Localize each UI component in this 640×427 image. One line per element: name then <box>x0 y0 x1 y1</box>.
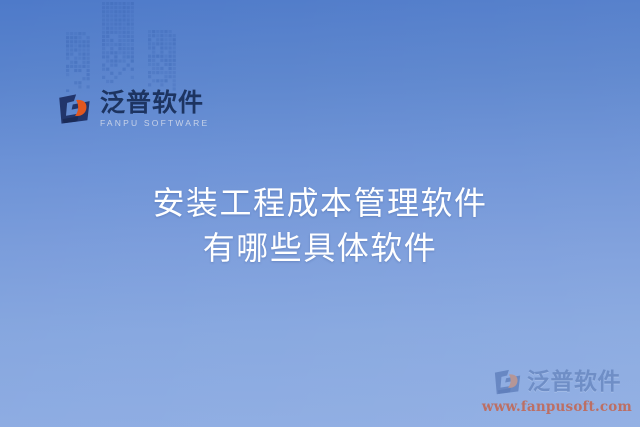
headline-line-2: 有哪些具体软件 <box>0 226 640 271</box>
watermark-brand-row: 泛普软件 <box>493 367 621 397</box>
brand-name-cn: 泛普软件 <box>100 90 209 116</box>
watermark-url[interactable]: www.fanpusoft.com <box>482 399 632 415</box>
brand-wordmark: 泛普软件 FANPU SOFTWARE <box>100 90 209 128</box>
fanpu-logo-mark-icon <box>57 91 93 127</box>
brand-name-en: FANPU SOFTWARE <box>100 119 209 128</box>
slide-headline: 安装工程成本管理软件 有哪些具体软件 <box>0 181 640 272</box>
fanpu-logo-mark-watermark-icon <box>493 367 523 397</box>
brand-logo-lockup: 泛普软件 FANPU SOFTWARE <box>57 90 209 128</box>
headline-line-1: 安装工程成本管理软件 <box>0 181 640 226</box>
watermark-name-cn: 泛普软件 <box>527 371 621 394</box>
pixel-skyline-pattern <box>66 0 186 92</box>
footer-watermark: 泛普软件 www.fanpusoft.com <box>482 367 632 415</box>
slide-canvas: 泛普软件 FANPU SOFTWARE 安装工程成本管理软件 有哪些具体软件 泛… <box>0 0 640 427</box>
